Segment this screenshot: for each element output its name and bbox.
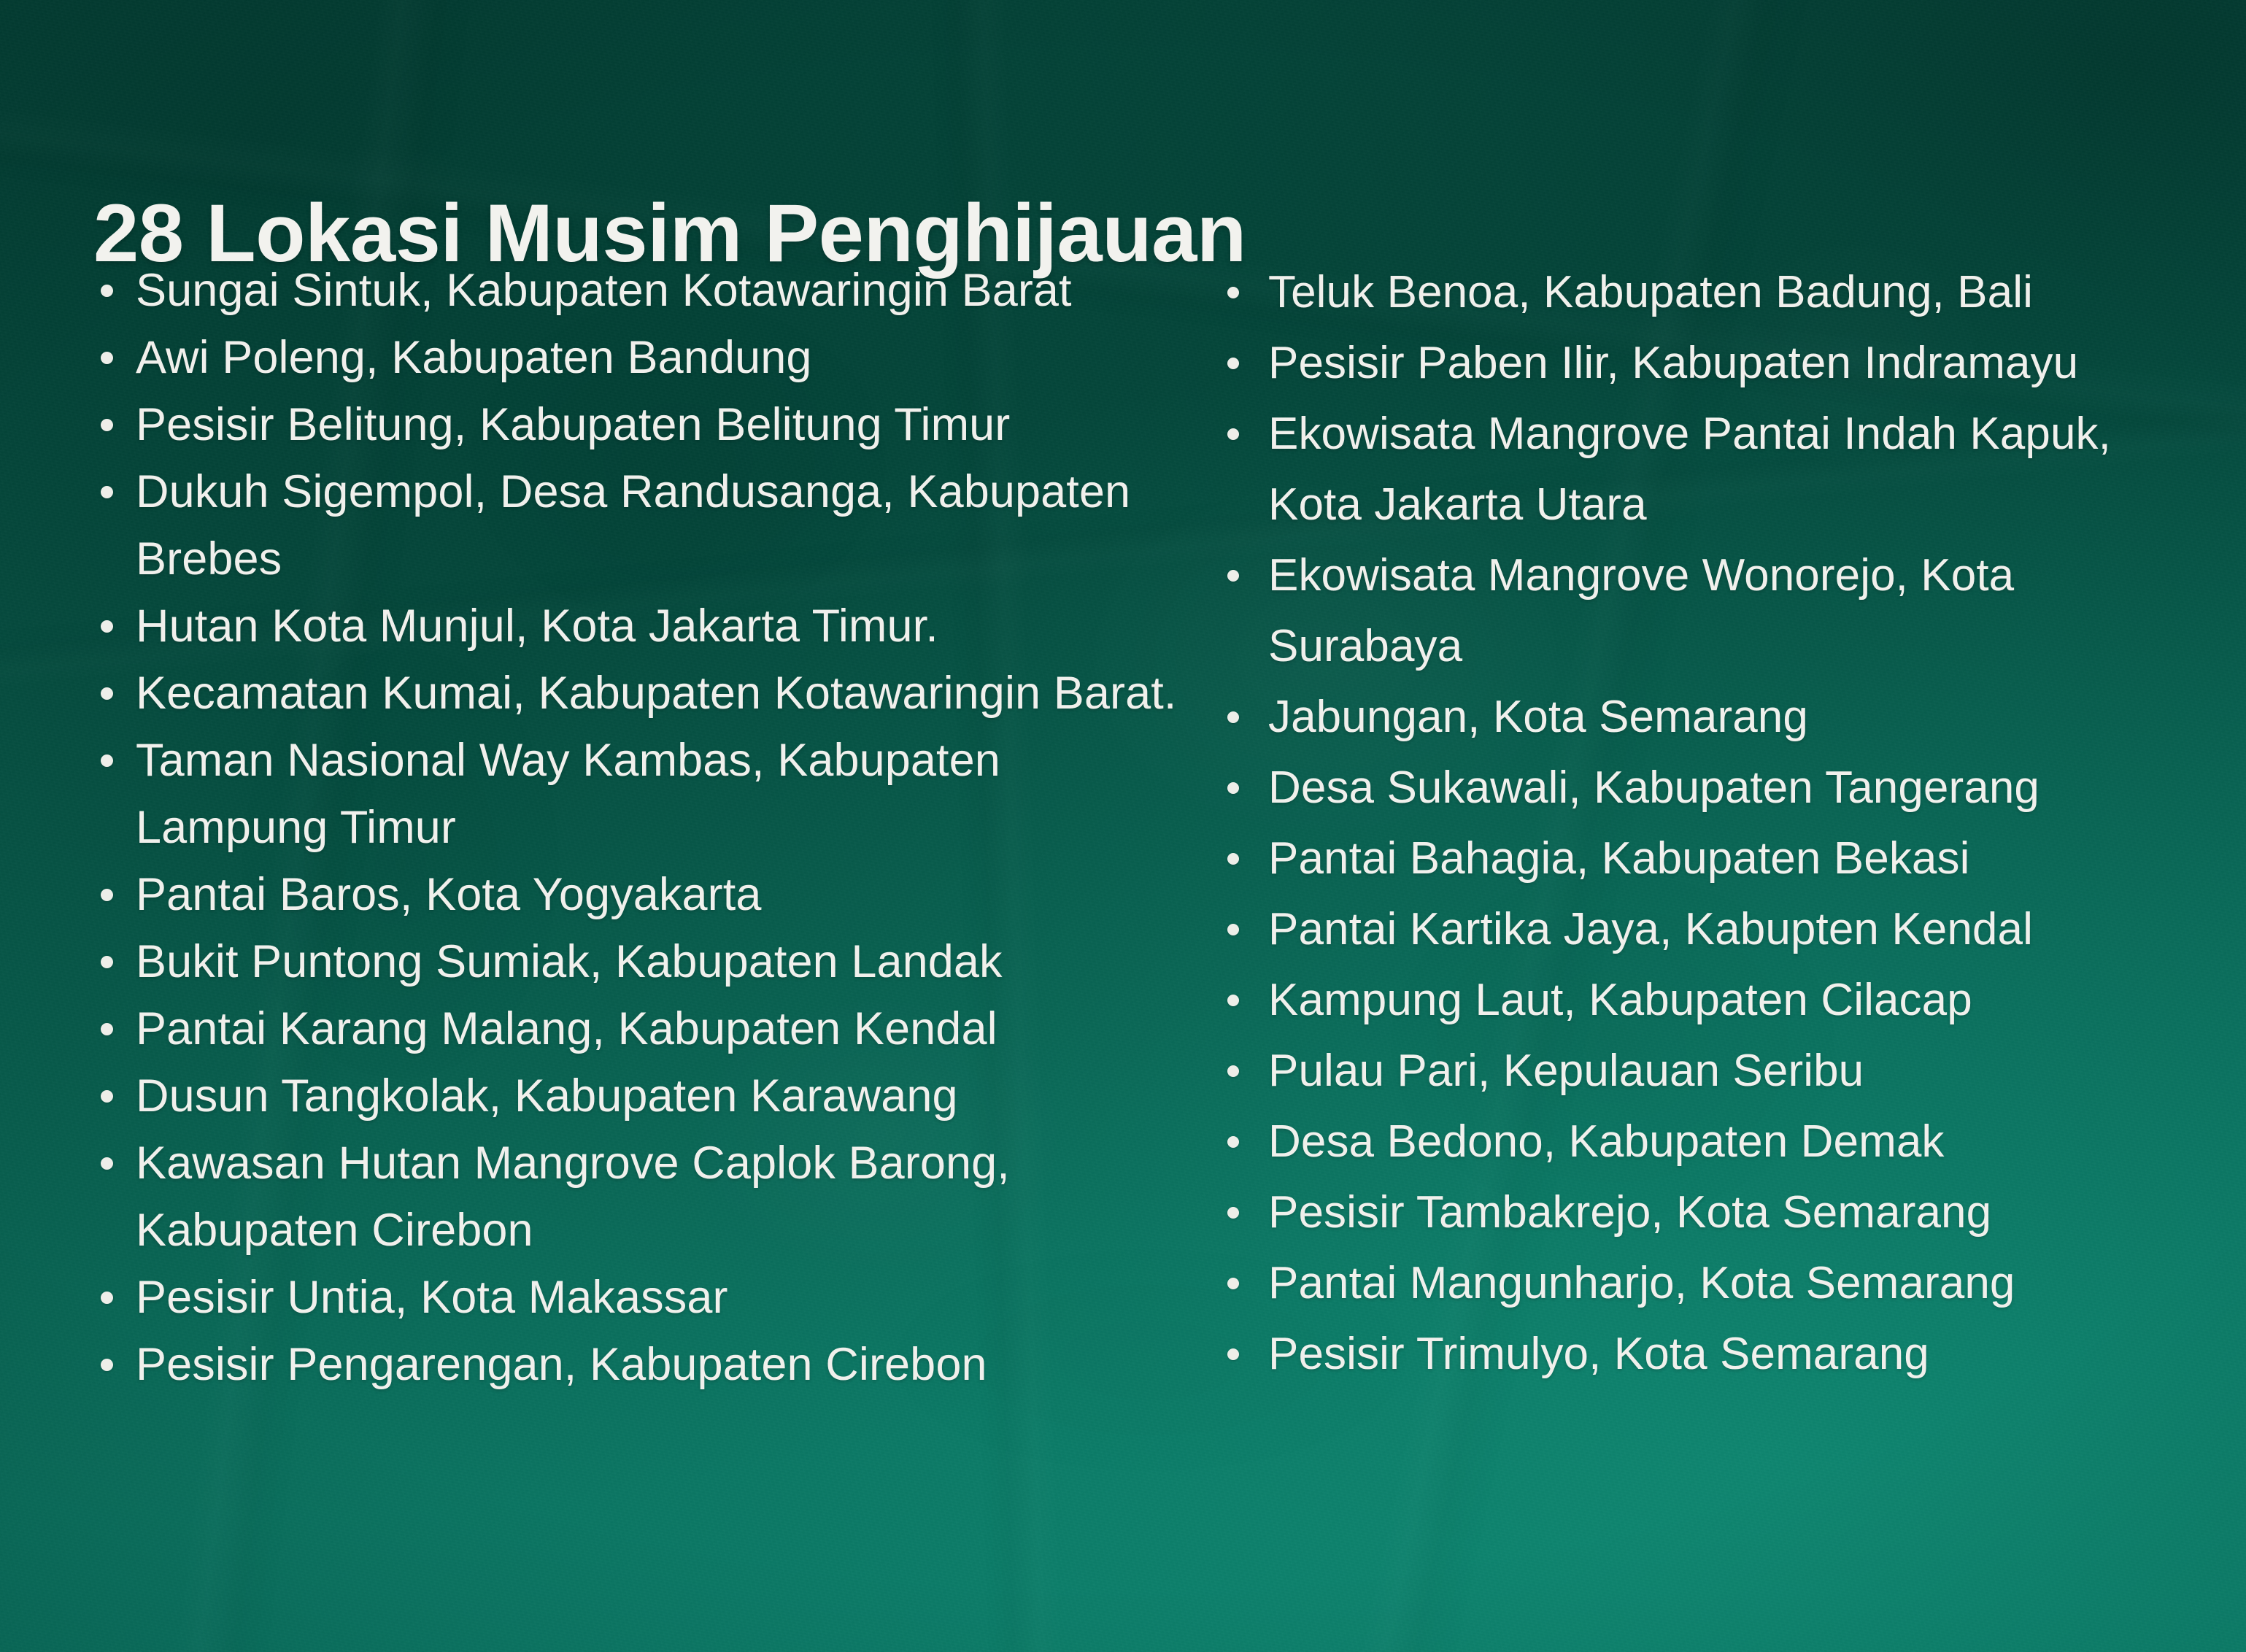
location-label: Dukuh Sigempol, Desa Randusanga, Kabupat… [136, 458, 1188, 593]
presentation-slide: 28 Lokasi Musim Penghijauan Sungai Sintu… [0, 0, 2246, 1652]
bullet-icon [101, 1023, 113, 1035]
location-label: Jabungan, Kota Semarang [1268, 682, 2202, 752]
list-item: Pesisir Untia, Kota Makassar [93, 1264, 1188, 1331]
bullet-icon [101, 620, 113, 633]
list-item: Pesisir Tambakrejo, Kota Semarang [1217, 1177, 2202, 1248]
location-label: Bukit Puntong Sumiak, Kabupaten Landak [136, 928, 1188, 995]
location-label: Teluk Benoa, Kabupaten Badung, Bali [1268, 257, 2202, 328]
list-item: Desa Bedono, Kabupaten Demak [1217, 1106, 2202, 1177]
list-item: Pulau Pari, Kepulauan Seribu [1217, 1035, 2202, 1106]
bullet-icon [101, 687, 113, 700]
location-label: Pantai Kartika Jaya, Kabupten Kendal [1268, 894, 2202, 965]
location-label: Pesisir Paben Ilir, Kabupaten Indramayu [1268, 328, 2202, 398]
bullet-icon [1227, 995, 1239, 1006]
list-item: Pesisir Paben Ilir, Kabupaten Indramayu [1217, 328, 2202, 398]
bullet-icon [101, 486, 113, 498]
bullet-icon [101, 1292, 113, 1304]
bullet-icon [1227, 1207, 1239, 1219]
list-item: Ekowisata Mangrove Wonorejo, Kota Suraba… [1217, 540, 2202, 682]
location-label: Kecamatan Kumai, Kabupaten Kotawaringin … [136, 660, 1188, 727]
location-label: Pesisir Tambakrejo, Kota Semarang [1268, 1177, 2202, 1248]
list-item: Hutan Kota Munjul, Kota Jakarta Timur. [93, 593, 1188, 660]
list-item: Jabungan, Kota Semarang [1217, 682, 2202, 752]
list-item: Bukit Puntong Sumiak, Kabupaten Landak [93, 928, 1188, 995]
bullet-icon [101, 419, 113, 431]
list-item: Kecamatan Kumai, Kabupaten Kotawaringin … [93, 660, 1188, 727]
location-label: Pesisir Untia, Kota Makassar [136, 1264, 1188, 1331]
list-item: Pesisir Belitung, Kabupaten Belitung Tim… [93, 391, 1188, 458]
bullet-icon [101, 1157, 113, 1170]
bullet-icon [1227, 287, 1239, 298]
location-label: Pantai Mangunharjo, Kota Semarang [1268, 1248, 2202, 1319]
location-label: Desa Sukawali, Kabupaten Tangerang [1268, 752, 2202, 823]
location-label: Pulau Pari, Kepulauan Seribu [1268, 1035, 2202, 1106]
bullet-icon [101, 754, 113, 767]
list-item: Pesisir Pengarengan, Kabupaten Cirebon [93, 1331, 1188, 1398]
list-item: Taman Nasional Way Kambas, Kabupaten Lam… [93, 727, 1188, 861]
bullet-icon [1227, 570, 1239, 582]
bullet-icon [101, 956, 113, 968]
list-item: Pesisir Trimulyo, Kota Semarang [1217, 1319, 2202, 1389]
list-item: Awi Poleng, Kabupaten Bandung [93, 324, 1188, 391]
list-item: Pantai Kartika Jaya, Kabupten Kendal [1217, 894, 2202, 965]
location-label: Pantai Bahagia, Kabupaten Bekasi [1268, 823, 2202, 894]
list-item: Ekowisata Mangrove Pantai Indah Kapuk, K… [1217, 398, 2202, 540]
bullet-icon [1227, 924, 1239, 935]
bullet-icon [101, 1359, 113, 1371]
location-label: Pantai Baros, Kota Yogyakarta [136, 861, 1188, 928]
bullet-icon [1227, 782, 1239, 794]
location-label: Pesisir Pengarengan, Kabupaten Cirebon [136, 1331, 1188, 1398]
location-columns: Sungai Sintuk, Kabupaten Kotawaringin Ba… [0, 257, 2246, 1398]
list-item: Desa Sukawali, Kabupaten Tangerang [1217, 752, 2202, 823]
location-label: Awi Poleng, Kabupaten Bandung [136, 324, 1188, 391]
location-label: Hutan Kota Munjul, Kota Jakarta Timur. [136, 593, 1188, 660]
left-column: Sungai Sintuk, Kabupaten Kotawaringin Ba… [0, 257, 1217, 1398]
bullet-icon [1227, 1278, 1239, 1289]
location-label: Sungai Sintuk, Kabupaten Kotawaringin Ba… [136, 257, 1188, 324]
location-label: Pantai Karang Malang, Kabupaten Kendal [136, 995, 1188, 1062]
bullet-icon [1227, 358, 1239, 369]
bullet-icon [1227, 1065, 1239, 1077]
list-item: Teluk Benoa, Kabupaten Badung, Bali [1217, 257, 2202, 328]
slide-content: 28 Lokasi Musim Penghijauan Sungai Sintu… [0, 0, 2246, 1652]
location-label: Kampung Laut, Kabupaten Cilacap [1268, 965, 2202, 1035]
location-label: Ekowisata Mangrove Pantai Indah Kapuk, K… [1268, 398, 2202, 540]
list-item: Sungai Sintuk, Kabupaten Kotawaringin Ba… [93, 257, 1188, 324]
bullet-icon [101, 285, 113, 297]
bullet-icon [101, 1090, 113, 1103]
location-label: Pesisir Belitung, Kabupaten Belitung Tim… [136, 391, 1188, 458]
bullet-icon [1227, 1348, 1239, 1360]
location-label: Kawasan Hutan Mangrove Caplok Barong, Ka… [136, 1130, 1188, 1264]
list-item: Kawasan Hutan Mangrove Caplok Barong, Ka… [93, 1130, 1188, 1264]
list-item: Kampung Laut, Kabupaten Cilacap [1217, 965, 2202, 1035]
list-item: Pantai Baros, Kota Yogyakarta [93, 861, 1188, 928]
right-column: Teluk Benoa, Kabupaten Badung, BaliPesis… [1217, 257, 2246, 1389]
location-list-right: Teluk Benoa, Kabupaten Badung, BaliPesis… [1217, 257, 2202, 1389]
bullet-icon [1227, 711, 1239, 723]
location-label: Ekowisata Mangrove Wonorejo, Kota Suraba… [1268, 540, 2202, 682]
bullet-icon [1227, 1136, 1239, 1148]
location-label: Pesisir Trimulyo, Kota Semarang [1268, 1319, 2202, 1389]
bullet-icon [101, 889, 113, 901]
bullet-icon [101, 352, 113, 364]
list-item: Dukuh Sigempol, Desa Randusanga, Kabupat… [93, 458, 1188, 593]
list-item: Dusun Tangkolak, Kabupaten Karawang [93, 1062, 1188, 1130]
list-item: Pantai Bahagia, Kabupaten Bekasi [1217, 823, 2202, 894]
location-label: Desa Bedono, Kabupaten Demak [1268, 1106, 2202, 1177]
location-label: Dusun Tangkolak, Kabupaten Karawang [136, 1062, 1188, 1130]
bullet-icon [1227, 428, 1239, 440]
list-item: Pantai Karang Malang, Kabupaten Kendal [93, 995, 1188, 1062]
location-label: Taman Nasional Way Kambas, Kabupaten Lam… [136, 727, 1188, 861]
list-item: Pantai Mangunharjo, Kota Semarang [1217, 1248, 2202, 1319]
location-list-left: Sungai Sintuk, Kabupaten Kotawaringin Ba… [93, 257, 1188, 1398]
bullet-icon [1227, 853, 1239, 865]
